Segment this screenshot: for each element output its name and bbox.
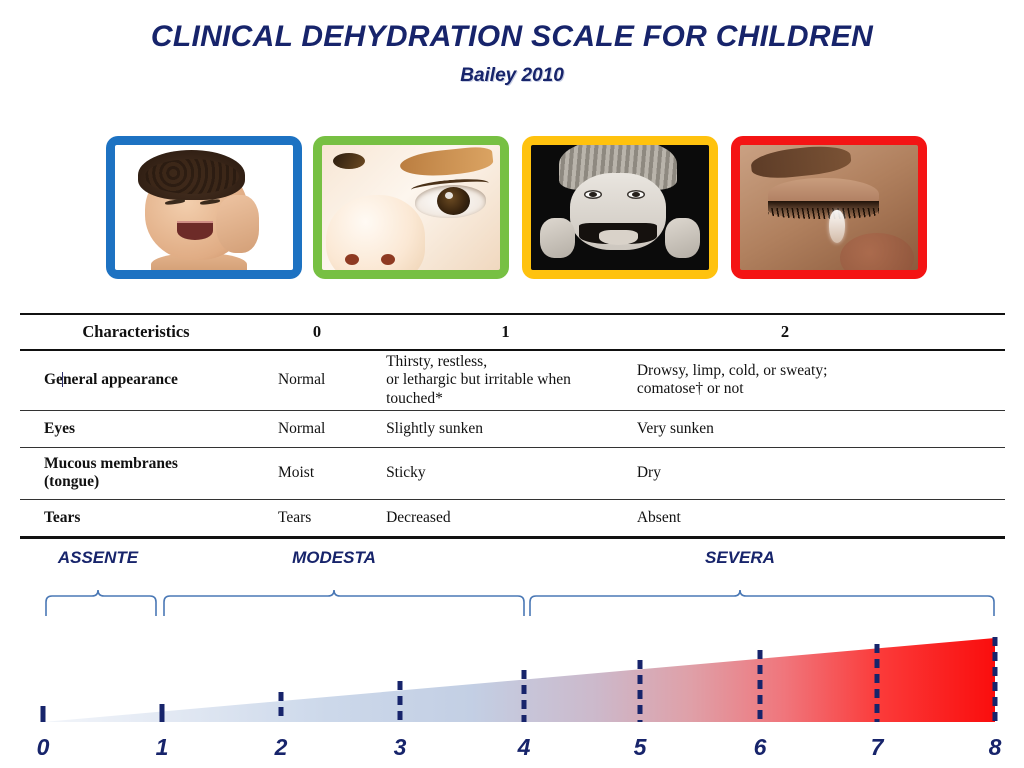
- header-score-2: 2: [633, 314, 1005, 350]
- severity-label-modesta: MODESTA: [292, 548, 376, 568]
- scale-number-8: 8: [989, 734, 1002, 761]
- laughing-baby-photo: [115, 145, 293, 270]
- eyes-photo-frame: [313, 136, 509, 279]
- header-score-1: 1: [382, 314, 633, 350]
- cell-general-appearance-0: Normal: [256, 350, 382, 410]
- severity-label-severa: SEVERA: [705, 548, 775, 568]
- cell-eyes-1: Slightly sunken: [382, 410, 633, 447]
- page-subtitle: Bailey 2010: [0, 65, 1024, 87]
- scale-number-1: 1: [156, 734, 169, 761]
- dehydration-scale-table: Characteristics 0 1 2 General appearance…: [20, 313, 1005, 539]
- scale-number-4: 4: [518, 734, 531, 761]
- cell-general-appearance-1-line2: or lethargic but irritable when touched*: [386, 371, 629, 408]
- table-row: Mucous membranes (tongue) Moist Sticky D…: [20, 447, 1005, 499]
- child-tongue-photo: [531, 145, 709, 270]
- mucous-membranes-photo-frame: [522, 136, 718, 279]
- scale-number-5: 5: [634, 734, 647, 761]
- severity-wedge-svg: [0, 624, 1024, 734]
- cell-eyes-2: Very sunken: [633, 410, 1005, 447]
- cell-general-appearance-2-line2: comatose† or not: [637, 380, 1001, 398]
- table-body: General appearance Normal Thirsty, restl…: [20, 350, 1005, 537]
- severity-labels: ASSENTE MODESTA SEVERA: [0, 548, 1024, 574]
- header-characteristics: Characteristics: [20, 314, 256, 350]
- scale-number-0: 0: [37, 734, 50, 761]
- table-row: Eyes Normal Slightly sunken Very sunken: [20, 410, 1005, 447]
- row-label-general-appearance: General appearance: [20, 350, 256, 410]
- row-label-general-appearance-rest: neral appearance: [63, 371, 178, 388]
- table-row: Tears Tears Decreased Absent: [20, 499, 1005, 537]
- brace-modesta: [164, 590, 524, 616]
- header-score-0: 0: [256, 314, 382, 350]
- brace-assente: [46, 590, 156, 616]
- severity-braces: [0, 586, 1024, 620]
- cell-tears-1: Decreased: [382, 499, 633, 537]
- cell-tears-2: Absent: [633, 499, 1005, 537]
- scale-number-6: 6: [754, 734, 767, 761]
- row-label-mucous-membranes-line2: (tongue): [44, 473, 252, 491]
- cell-tears-0: Tears: [256, 499, 382, 537]
- severity-label-assente: ASSENTE: [58, 548, 138, 568]
- cell-mucous-1: Sticky: [382, 447, 633, 499]
- row-label-mucous-membranes-line1: Mucous membranes: [44, 455, 252, 473]
- cell-general-appearance-1-line1: Thirsty, restless,: [386, 353, 629, 371]
- cell-eyes-0: Normal: [256, 410, 382, 447]
- scale-number-2: 2: [275, 734, 288, 761]
- scale-number-3: 3: [394, 734, 407, 761]
- table-row: General appearance Normal Thirsty, restl…: [20, 350, 1005, 410]
- cell-general-appearance-2: Drowsy, limp, cold, or sweaty; comatose†…: [633, 350, 1005, 410]
- scale-number-7: 7: [871, 734, 884, 761]
- severity-scale-chart: [0, 624, 1024, 734]
- tears-photo-frame: [731, 136, 927, 279]
- eye-with-tear-photo: [740, 145, 918, 270]
- table-header-row: Characteristics 0 1 2: [20, 314, 1005, 350]
- row-label-mucous-membranes: Mucous membranes (tongue): [20, 447, 256, 499]
- brace-severa: [530, 590, 994, 616]
- cell-general-appearance-2-line1: Drowsy, limp, cold, or sweaty;: [637, 362, 1001, 380]
- braces-svg: [0, 586, 1024, 620]
- row-label-eyes: Eyes: [20, 410, 256, 447]
- cell-mucous-2: Dry: [633, 447, 1005, 499]
- cell-general-appearance-1: Thirsty, restless, or lethargic but irri…: [382, 350, 633, 410]
- cell-mucous-0: Moist: [256, 447, 382, 499]
- page-title: CLINICAL DEHYDRATION SCALE FOR CHILDREN: [0, 20, 1024, 53]
- general-appearance-photo-frame: [106, 136, 302, 279]
- title-block: CLINICAL DEHYDRATION SCALE FOR CHILDREN …: [0, 20, 1024, 87]
- row-label-tears: Tears: [20, 499, 256, 537]
- severity-wedge-shape: [43, 638, 995, 722]
- child-eye-closeup-photo: [322, 145, 500, 270]
- scale-numbers: 0 1 2 3 4 5 6 7 8: [0, 734, 1024, 766]
- table-header: Characteristics 0 1 2: [20, 314, 1005, 350]
- photo-strip: [0, 136, 1024, 286]
